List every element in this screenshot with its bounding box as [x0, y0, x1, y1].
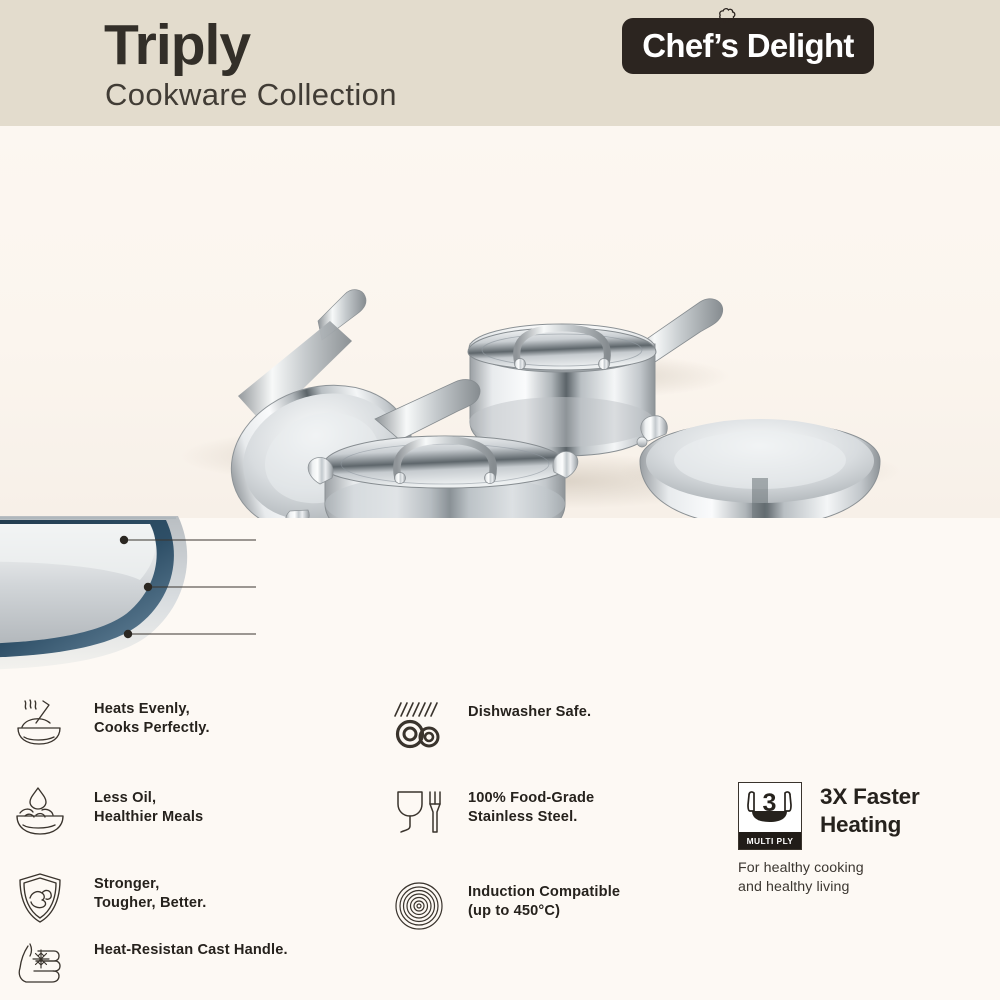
- feature-less-oil: Less Oil, Healthier Meals: [12, 786, 203, 838]
- feature-food-grade: 100% Food-Grade Stainless Steel.: [392, 786, 594, 838]
- feature-line: 100% Food-Grade: [468, 789, 594, 808]
- induction-coil-icon: [392, 880, 448, 932]
- feature-line: (up to 450°C): [468, 902, 620, 921]
- badge-subtext-line: and healthy living: [738, 878, 988, 897]
- badge-headline-line: 3X Faster: [820, 783, 920, 811]
- badge-headline: 3X Faster Heating: [820, 782, 920, 839]
- poster-canvas: Triply Cookware Collection Chef’s Deligh…: [0, 0, 1000, 1000]
- feature-line: Stronger,: [94, 875, 206, 894]
- badge-subtext-line: For healthy cooking: [738, 859, 988, 878]
- feature-dishwasher-safe: Dishwasher Safe.: [392, 700, 591, 752]
- feature-line: Heats Evenly,: [94, 700, 210, 719]
- feature-stronger: Stronger, Tougher, Better.: [12, 872, 206, 924]
- steaming-bowl-icon: [12, 697, 68, 749]
- cross-section-illustration: [0, 510, 270, 682]
- feature-line: Cooks Perfectly.: [94, 719, 210, 738]
- feature-heat-resistant-handle: Heat-Resistan Cast Handle.: [12, 938, 288, 990]
- feature-line: Less Oil,: [94, 789, 203, 808]
- multi-ply-pot-icon: 3: [739, 783, 800, 831]
- feature-line: Healthier Meals: [94, 808, 203, 827]
- feature-line: Induction Compatible: [468, 883, 620, 902]
- feature-line: Stainless Steel.: [468, 808, 594, 827]
- hero-product-image: [0, 126, 1000, 518]
- triply-layer-diagram: 18/10 Stainless Steel Food safe | Durabl…: [0, 510, 1000, 682]
- cool-touch-hand-icon: [12, 938, 68, 990]
- multi-ply-pot-graphic: 3: [739, 783, 801, 832]
- cookware-set-illustration: [0, 126, 1000, 518]
- multi-ply-badge-box: 3 MULTI PLY: [738, 782, 802, 850]
- feature-label: Induction Compatible (up to 450°C): [468, 880, 620, 922]
- callout-dot-aluminum: [144, 583, 152, 591]
- dishwasher-plates-icon: [392, 700, 448, 752]
- feature-heats-evenly: Heats Evenly, Cooks Perfectly.: [12, 697, 210, 749]
- feature-label: Less Oil, Healthier Meals: [94, 786, 203, 828]
- feature-label: Heats Evenly, Cooks Perfectly.: [94, 697, 210, 739]
- callout-dot-steel-inner: [120, 536, 128, 544]
- page-subtitle: Cookware Collection: [105, 78, 397, 112]
- shield-muscle-icon: [12, 872, 68, 924]
- salad-bowl-oil-drop-icon: [12, 786, 68, 838]
- header-band: Triply Cookware Collection Chef’s Deligh…: [0, 0, 1000, 126]
- feature-label: Dishwasher Safe.: [468, 700, 591, 722]
- feature-line: Dishwasher Safe.: [468, 703, 591, 722]
- chef-hat-icon: [718, 7, 738, 25]
- badge-headline-line: Heating: [820, 811, 920, 839]
- feature-induction: Induction Compatible (up to 450°C): [392, 880, 620, 932]
- badge-subtext: For healthy cooking and healthy living: [738, 859, 988, 897]
- multi-ply-bar-label: MULTI PLY: [739, 832, 801, 849]
- brand-logo: Chef’s Delight: [622, 18, 874, 74]
- feature-label: Stronger, Tougher, Better.: [94, 872, 206, 914]
- page-title: Triply: [104, 16, 250, 76]
- multi-ply-number: 3: [763, 789, 777, 817]
- feature-label: Heat-Resistan Cast Handle.: [94, 938, 288, 960]
- multi-ply-badge: 3 MULTI PLY 3X Faster Heating For health…: [738, 782, 988, 897]
- glass-fork-food-safe-icon: [392, 786, 448, 838]
- feature-label: 100% Food-Grade Stainless Steel.: [468, 786, 594, 828]
- callout-dot-steel-outer: [124, 630, 132, 638]
- brand-logo-text: Chef’s Delight: [642, 27, 853, 65]
- feature-line: Tougher, Better.: [94, 894, 206, 913]
- feature-line: Heat-Resistan Cast Handle.: [94, 941, 288, 960]
